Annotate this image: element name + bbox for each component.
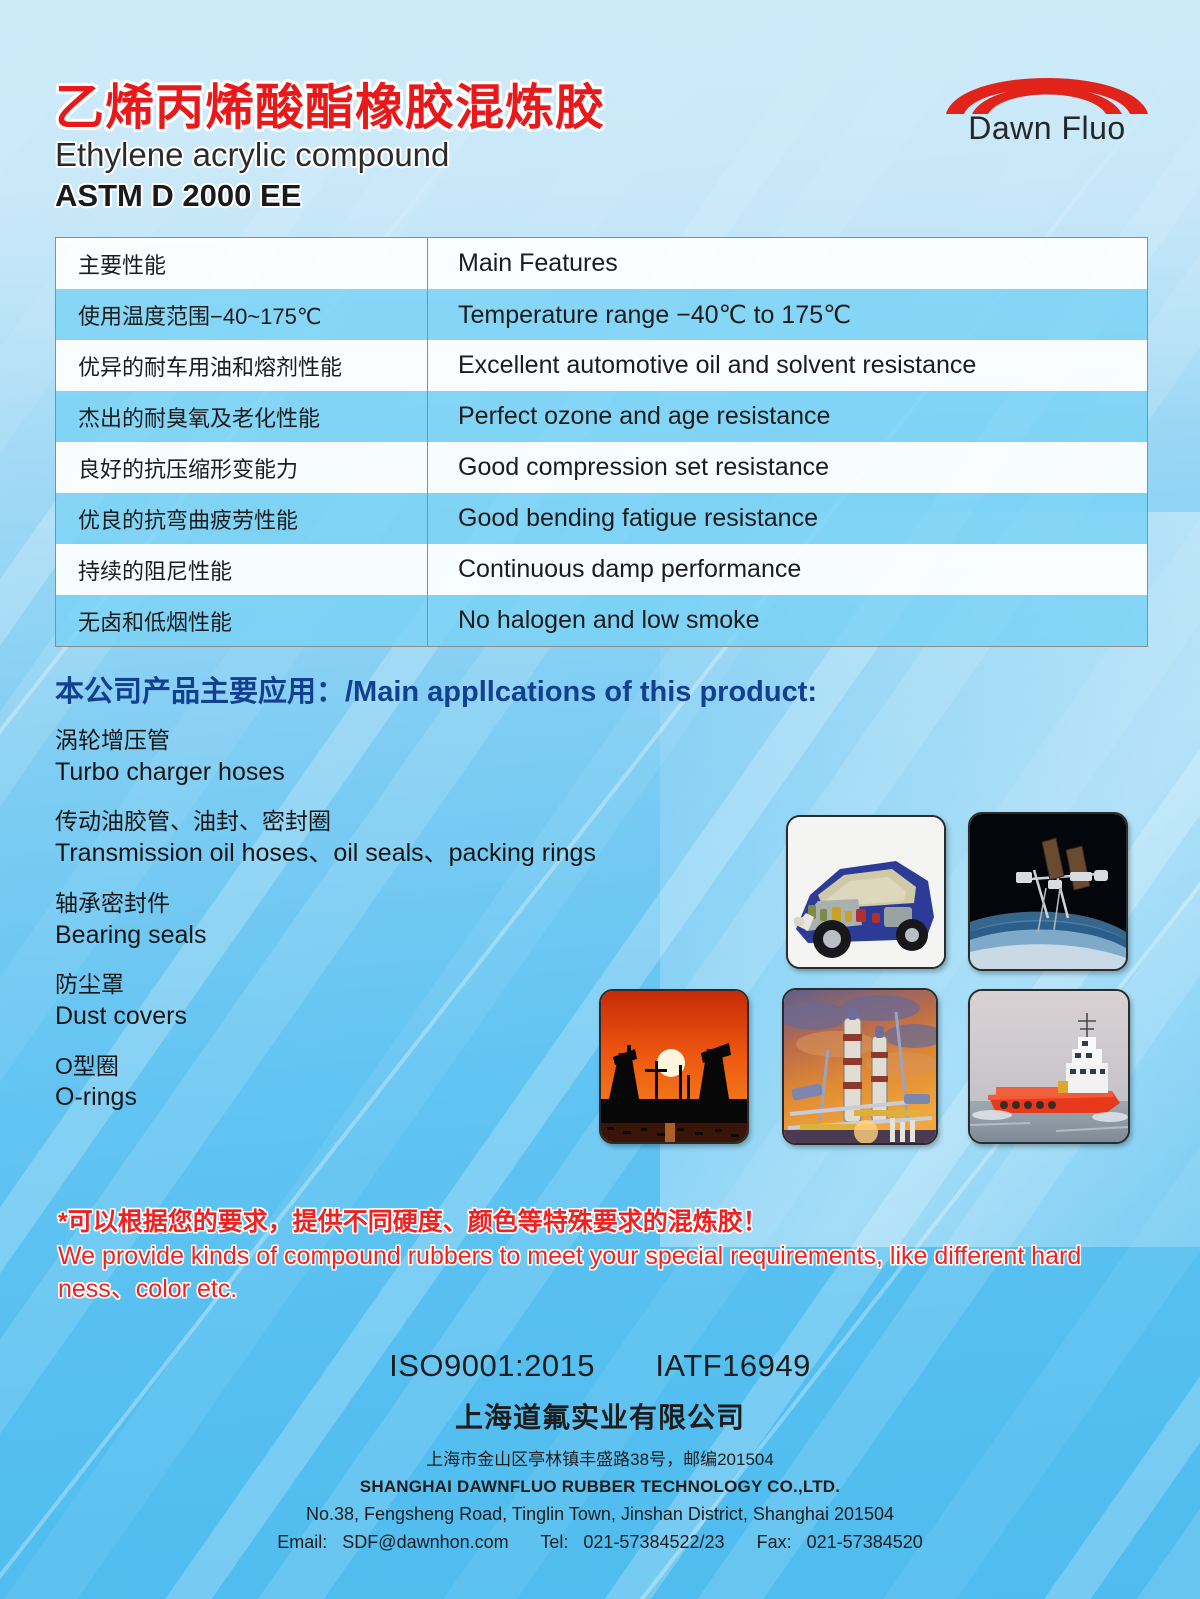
space-station-illustration [970,814,1126,969]
list-item: 轴承密封件 Bearing seals [55,889,755,951]
application-en: Transmission oil hoses、oil seals、packing… [55,837,755,870]
table-row: 持续的阻尼性能 Continuous damp performance [56,544,1147,595]
list-item: 涡轮增压管 Turbo charger hoses [55,726,755,788]
table-row: 使用温度范围−40~175℃ Temperature range −40℃ to… [56,289,1147,340]
table-cell-en: Perfect ozone and age resistance [428,391,1147,442]
refinery-illustration [784,990,936,1143]
table-cell-cn: 主要性能 [56,238,428,289]
table-row: 优异的耐车用油和熔剂性能 Excellent automotive oil an… [56,340,1147,391]
list-item: 传动油胶管、油封、密封圈 Transmission oil hoses、oil … [55,807,755,869]
application-cn: 轴承密封件 [55,889,755,919]
application-en: Turbo charger hoses [55,756,755,789]
table-cell-en: No halogen and low smoke [428,595,1147,646]
company-address-chinese: 上海市金山区亭林镇丰盛路38号，邮编201504 [0,1445,1200,1470]
page-footer: ISO9001:2015 IATF16949 上海道氟实业有限公司 上海市金山区… [0,1348,1200,1553]
refinery-photo [782,988,938,1145]
table-cell-en: Continuous damp performance [428,544,1147,595]
table-cell-en: Good compression set resistance [428,442,1147,493]
certification-iatf: IATF16949 [655,1348,811,1383]
application-cn: 涡轮增压管 [55,726,755,756]
tel-value: 021-57384522/23 [583,1532,724,1552]
logo-arcs-icon [942,58,1152,118]
table-cell-cn: 无卤和低烟性能 [56,595,428,646]
table-cell-cn: 使用温度范围−40~175℃ [56,289,428,340]
table-cell-en: Main Features [428,238,1147,289]
fax-value: 021-57384520 [807,1532,923,1552]
main-features-table: 主要性能 Main Features 使用温度范围−40~175℃ Temper… [55,237,1148,647]
offshore-vessel-photo [968,989,1130,1144]
oilfield-sunset-illustration [601,991,747,1142]
company-logo: Dawn Fluo [942,58,1152,160]
table-row: 优良的抗弯曲疲劳性能 Good bending fatigue resistan… [56,493,1147,544]
note-english-line1: We provide kinds of compound rubbers to … [58,1240,1158,1273]
page-header: 乙烯丙烯酸酯橡胶混炼胶 Ethylene acrylic compound AS… [0,0,1200,230]
custom-requirements-note: *可以根据您的要求，提供不同硬度、颜色等特殊要求的混炼胶！ We provide… [58,1205,1158,1305]
table-row: 杰出的耐臭氧及老化性能 Perfect ozone and age resist… [56,391,1147,442]
table-cell-cn: 良好的抗压缩形变能力 [56,442,428,493]
page-title-english: Ethylene acrylic compound [55,136,449,174]
table-cell-cn: 持续的阻尼性能 [56,544,428,595]
table-row: 主要性能 Main Features [56,238,1147,289]
company-name-chinese: 上海道氟实业有限公司 [0,1396,1200,1436]
note-english-line2: ness、color etc. [58,1273,1158,1306]
email-label: Email: [277,1532,327,1552]
table-cell-en: Excellent automotive oil and solvent res… [428,340,1147,391]
tel-label: Tel: [540,1532,568,1552]
product-datasheet-page: 乙烯丙烯酸酯橡胶混炼胶 Ethylene acrylic compound AS… [0,0,1200,1599]
car-cutaway-photo [786,815,946,969]
application-en: Bearing seals [55,919,755,952]
table-cell-en: Temperature range −40℃ to 175℃ [428,289,1147,340]
email-value[interactable]: SDF@dawnhon.com [342,1532,508,1552]
applications-heading: 本公司产品主要应用：/Main appllcations of this pro… [55,668,817,710]
fax-label: Fax: [757,1532,792,1552]
oilfield-sunset-photo [599,989,749,1144]
table-cell-cn: 优良的抗弯曲疲劳性能 [56,493,428,544]
table-row: 良好的抗压缩形变能力 Good compression set resistan… [56,442,1147,493]
note-chinese: *可以根据您的要求，提供不同硬度、颜色等特殊要求的混炼胶！ [58,1205,1158,1240]
standard-label: ASTM D 2000 EE [55,178,301,214]
table-row: 无卤和低烟性能 No halogen and low smoke [56,595,1147,646]
certifications: ISO9001:2015 IATF16949 [0,1348,1200,1384]
company-address-english: No.38, Fengsheng Road, Tinglin Town, Jin… [0,1504,1200,1525]
table-cell-en: Good bending fatigue resistance [428,493,1147,544]
table-cell-cn: 杰出的耐臭氧及老化性能 [56,391,428,442]
space-station-photo [968,812,1128,971]
certification-iso: ISO9001:2015 [389,1348,595,1383]
car-cutaway-illustration [788,817,944,967]
table-cell-cn: 优异的耐车用油和熔剂性能 [56,340,428,391]
company-name-english: SHANGHAI DAWNFLUO RUBBER TECHNOLOGY CO.,… [0,1477,1200,1497]
page-title-chinese: 乙烯丙烯酸酯橡胶混炼胶 [55,68,605,139]
offshore-vessel-illustration [970,991,1128,1142]
application-cn: 传动油胶管、油封、密封圈 [55,807,755,837]
contact-line: Email: SDF@dawnhon.com Tel: 021-57384522… [0,1532,1200,1553]
logo-wordmark: Dawn Fluo [942,110,1152,147]
